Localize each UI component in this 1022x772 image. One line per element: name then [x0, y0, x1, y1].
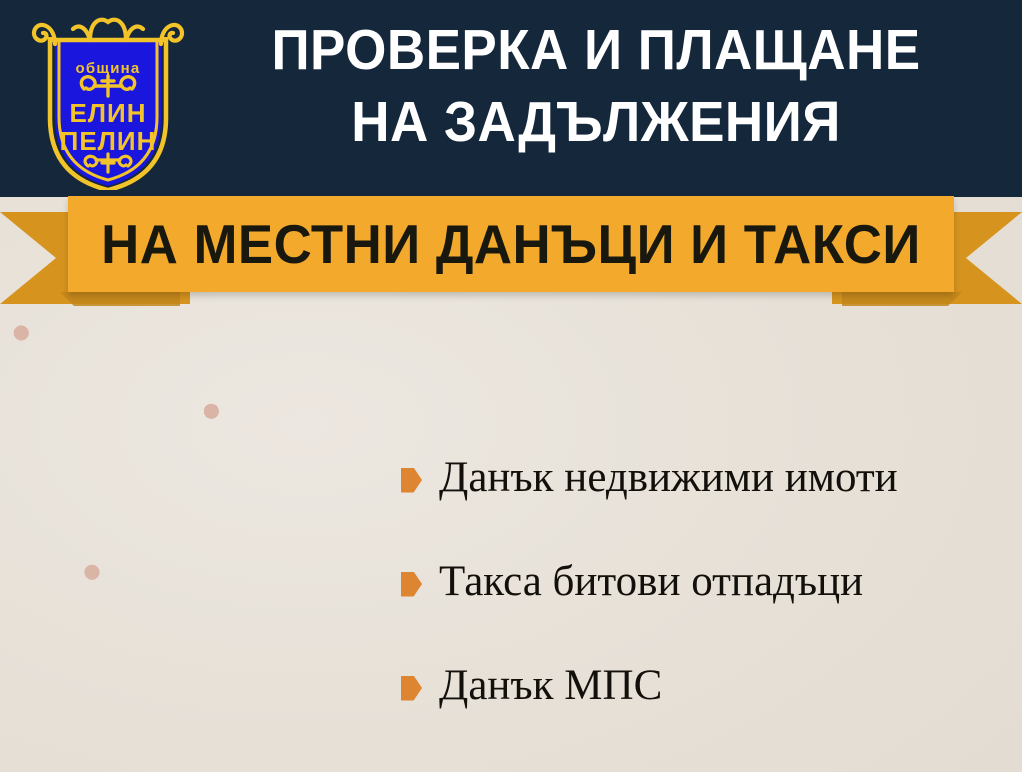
ribbon-band: НА МЕСТНИ ДАНЪЦИ И ТАКСИ	[68, 196, 954, 292]
poster-title-line-1: ПРОВЕРКА И ПЛАЩАНЕ	[218, 14, 973, 86]
ribbon-label: НА МЕСТНИ ДАНЪЦИ И ТАКСИ	[101, 215, 921, 273]
stamp-paper	[35, 329, 181, 475]
svg-text:ЕЛИН: ЕЛИН	[69, 98, 146, 128]
subtitle-ribbon: НА МЕСТНИ ДАНЪЦИ И ТАКСИ	[0, 196, 1022, 311]
list-item[interactable]: Данък МПС	[401, 634, 1013, 738]
list-item[interactable]: Данък недвижими имоти	[401, 426, 1013, 530]
car-front-icon	[122, 570, 250, 692]
coat-of-arms-icon: община ЕЛИН ПЕЛИН	[28, 10, 188, 190]
tax-type-list: Данък недвижими имоти Такса битови отпад…	[401, 426, 1013, 738]
arrow-bullet-icon	[401, 572, 422, 597]
arrow-bullet-icon	[401, 468, 422, 493]
header-bar: община ЕЛИН ПЕЛИН	[0, 0, 1022, 197]
stamp-card-property	[13, 307, 203, 497]
ribbon-fold-right	[842, 292, 962, 306]
arrow-bullet-icon	[401, 676, 422, 701]
list-item-label: Данък недвижими имоти	[439, 454, 898, 502]
list-item-label: Такса битови отпадъци	[439, 558, 863, 606]
list-item-label: Данък МПС	[439, 662, 662, 710]
ribbon-fold-left	[60, 292, 180, 306]
house-icon	[50, 344, 165, 459]
poster-title: ПРОВЕРКА И ПЛАЩАНЕ НА ЗАДЪЛЖЕНИЯ	[190, 14, 1002, 158]
poster-canvas: община ЕЛИН ПЕЛИН	[0, 0, 1022, 772]
list-item[interactable]: Такса битови отпадъци	[401, 530, 1013, 634]
stamp-paper	[107, 552, 265, 710]
svg-text:ПЕЛИН: ПЕЛИН	[60, 126, 157, 156]
trash-bin-icon	[241, 429, 348, 540]
municipality-logo: община ЕЛИН ПЕЛИН	[28, 10, 188, 190]
poster-title-line-2: НА ЗАДЪЛЖЕНИЯ	[218, 86, 973, 158]
